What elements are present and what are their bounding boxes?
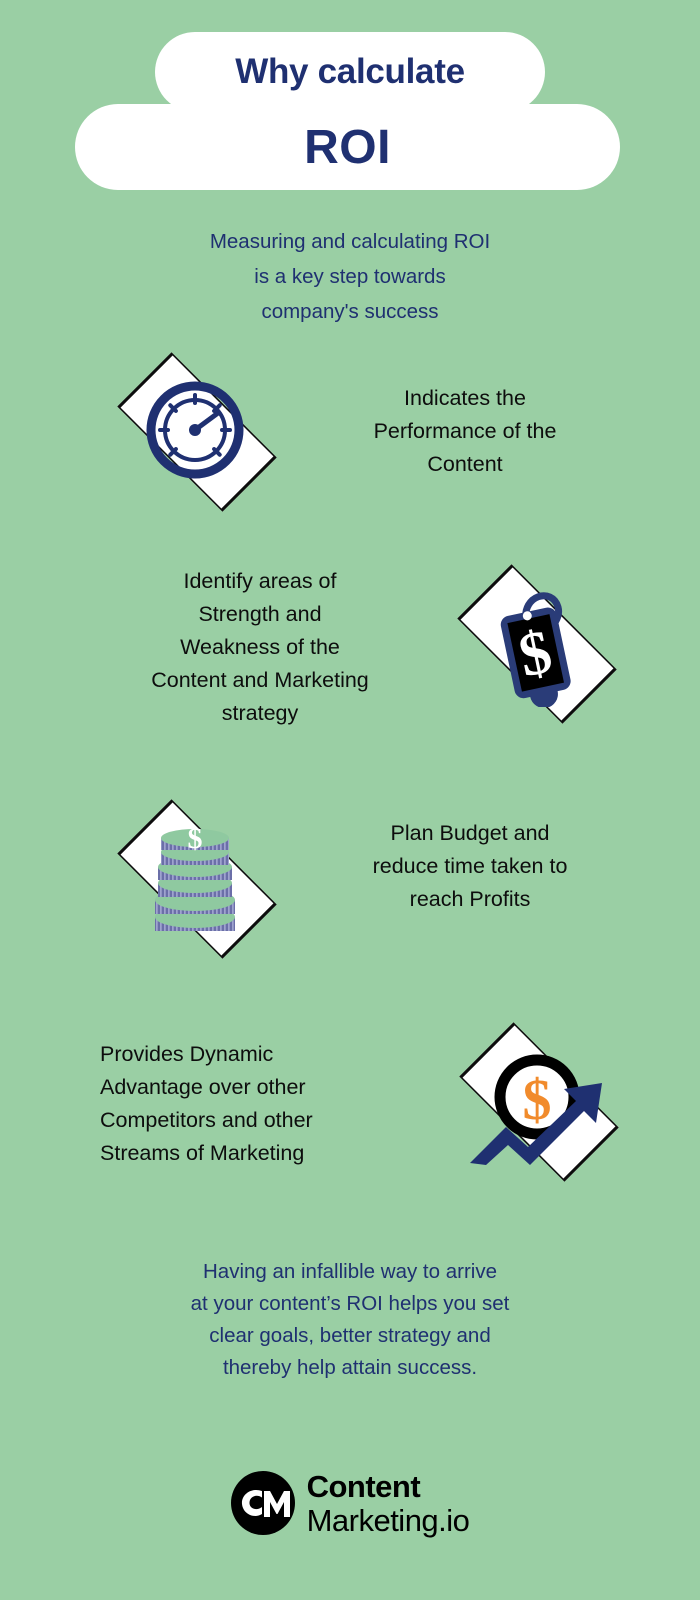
footer: Content Marketing.io <box>0 1448 700 1558</box>
header: Why calculate ROI <box>0 0 700 200</box>
benefit-text-3: Plan Budget and reduce time taken to rea… <box>320 817 620 916</box>
brand-name-top: Content <box>307 1471 470 1502</box>
infographic-page: Why calculate ROI Measuring and calculat… <box>0 0 700 1600</box>
subtitle-line: company's success <box>100 294 600 329</box>
outro-line: at your content’s ROI helps you set <box>110 1288 590 1320</box>
svg-text:$: $ <box>523 1067 552 1132</box>
benefit-row-2: $ Identify areas of Strength and Weaknes… <box>0 555 700 730</box>
benefit-line: reduce time taken to <box>320 850 620 883</box>
benefit-line: Competitors and other <box>100 1104 420 1137</box>
benefit-line: Advantage over other <box>100 1071 420 1104</box>
cm-monogram-icon <box>231 1471 295 1535</box>
page-title-line1: Why calculate <box>155 32 545 112</box>
benefit-line: Performance of the <box>320 415 610 448</box>
outro-line: thereby help attain success. <box>110 1352 590 1384</box>
benefit-line: Identify areas of <box>90 565 430 598</box>
page-title-line2: ROI <box>75 104 620 190</box>
benefit-text-1: Indicates the Performance of the Content <box>320 382 610 481</box>
price-tag-icon-container: $ <box>440 577 630 707</box>
subtitle: Measuring and calculating ROI is a key s… <box>100 224 600 329</box>
outro-line: clear goals, better strategy and <box>110 1320 590 1352</box>
benefit-line: reach Profits <box>320 883 620 916</box>
svg-text:$: $ <box>188 822 203 855</box>
speedometer-icon <box>100 365 290 495</box>
benefit-line: Provides Dynamic <box>100 1038 420 1071</box>
outro-text: Having an infallible way to arrive at yo… <box>110 1256 590 1384</box>
benefit-text-4: Provides Dynamic Advantage over other Co… <box>100 1038 420 1170</box>
outro-line: Having an infallible way to arrive <box>110 1256 590 1288</box>
coin-stack-icon: $ <box>100 812 290 942</box>
benefit-row-1: Indicates the Performance of the Content <box>0 365 700 495</box>
coin-stack-icon-container: $ <box>100 812 290 942</box>
dollar-growth-arrow-icon-container: $ <box>442 1035 632 1165</box>
brand-wordmark: Content Marketing.io <box>307 1471 470 1536</box>
price-tag-icon: $ <box>440 577 630 707</box>
benefit-line: Strength and <box>90 598 430 631</box>
brand-name-bottom: Marketing.io <box>307 1505 470 1536</box>
dollar-growth-arrow-icon: $ <box>442 1035 632 1165</box>
speedometer-icon-container <box>100 365 290 495</box>
subtitle-line: is a key step towards <box>100 259 600 294</box>
benefit-line: Content and Marketing <box>90 664 430 697</box>
subtitle-line: Measuring and calculating ROI <box>100 224 600 259</box>
benefit-line: Content <box>320 448 610 481</box>
benefit-row-4: $ Provides Dynamic Advantage over other … <box>0 1030 700 1170</box>
benefit-line: Streams of Marketing <box>100 1137 420 1170</box>
brand-logo[interactable]: Content Marketing.io <box>231 1471 470 1536</box>
benefit-line: Weakness of the <box>90 631 430 664</box>
benefit-line: strategy <box>90 697 430 730</box>
benefit-line: Plan Budget and <box>320 817 620 850</box>
benefit-line: Indicates the <box>320 382 610 415</box>
benefit-text-2: Identify areas of Strength and Weakness … <box>90 565 430 730</box>
benefit-row-3: $ Plan Budget and reduce time taken to r… <box>0 812 700 942</box>
